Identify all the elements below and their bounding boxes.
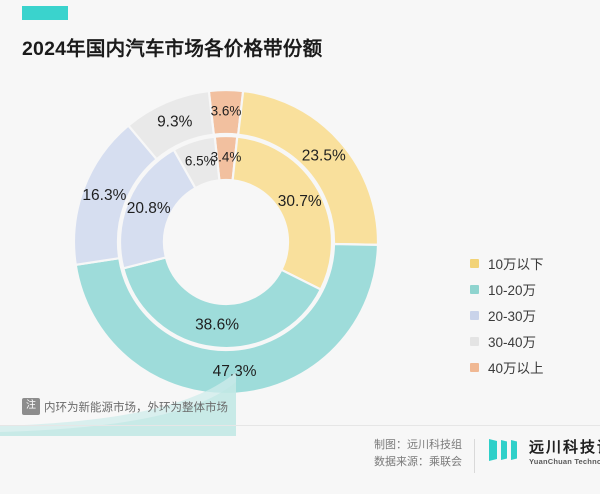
legend-swatch-icon-1 [470, 285, 479, 294]
brand-name-cn: 远川科技评论 [529, 439, 600, 456]
credits-vertical-divider [474, 439, 475, 473]
brand-mark-icon [488, 437, 522, 468]
credit-chart-by: 制图：远川科技组 [366, 437, 462, 454]
brand-text: 远川科技评论 YuanChuan Technology Review [529, 439, 600, 467]
footnote-text: 内环为新能源市场，外环为整体市场 [44, 399, 228, 415]
legend-swatch-icon-0 [470, 259, 479, 268]
legend-label-3: 30-40万 [488, 331, 536, 351]
donut-svg: 3.4%30.7%38.6%20.8%6.5%3.6%23.5%47.3%16.… [58, 74, 394, 410]
brand-name-en: YuanChuan Technology Review [529, 456, 600, 467]
infographic-page: 2024年国内汽车市场各价格带份额 3.4%30.7%38.6%20.8%6.5… [0, 0, 600, 504]
legend-item-0[interactable]: 10万以下 [470, 250, 590, 276]
credits-block: 制图：远川科技组 数据来源：乘联会 [366, 437, 462, 471]
legend-label-0: 10万以下 [488, 253, 544, 273]
accent-bar [22, 6, 68, 20]
footnote-badge: 注 [22, 398, 40, 415]
legend-item-3[interactable]: 30-40万 [470, 328, 590, 354]
footnote: 注 内环为新能源市场，外环为整体市场 [22, 398, 228, 415]
slice-label-outer-30-40万: 9.3% [157, 114, 193, 131]
footer-divider [0, 425, 600, 426]
page-title: 2024年国内汽车市场各价格带份额 [22, 32, 322, 61]
slice-label-outer-40万以上: 3.6% [211, 104, 242, 119]
slice-label-inner-10-20万: 38.6% [195, 317, 239, 334]
legend-swatch-icon-4 [470, 363, 479, 372]
slice-label-outer-20-30万: 16.3% [82, 187, 126, 204]
credit-data-source: 数据来源：乘联会 [366, 454, 462, 471]
legend-item-4[interactable]: 40万以上 [470, 354, 590, 380]
slice-label-inner-20-30万: 20.8% [127, 200, 171, 217]
slice-label-outer-10-20万: 47.3% [213, 363, 257, 380]
slice-label-outer-10万以下: 23.5% [302, 147, 346, 164]
legend-swatch-icon-3 [470, 337, 479, 346]
slice-label-inner-30-40万: 6.5% [185, 154, 216, 169]
legend-swatch-icon-2 [470, 311, 479, 320]
legend-label-4: 40万以上 [488, 357, 544, 377]
slice-label-inner-10万以下: 30.7% [278, 193, 322, 210]
brand-logo: 远川科技评论 YuanChuan Technology Review [488, 437, 600, 468]
bottom-strip [0, 494, 600, 504]
nested-donut-chart: 3.4%30.7%38.6%20.8%6.5%3.6%23.5%47.3%16.… [58, 74, 394, 410]
chart-legend: 10万以下 10-20万 20-30万 30-40万 40万以上 [470, 250, 590, 380]
legend-item-2[interactable]: 20-30万 [470, 302, 590, 328]
legend-label-1: 10-20万 [488, 279, 536, 299]
legend-item-1[interactable]: 10-20万 [470, 276, 590, 302]
legend-label-2: 20-30万 [488, 305, 536, 325]
